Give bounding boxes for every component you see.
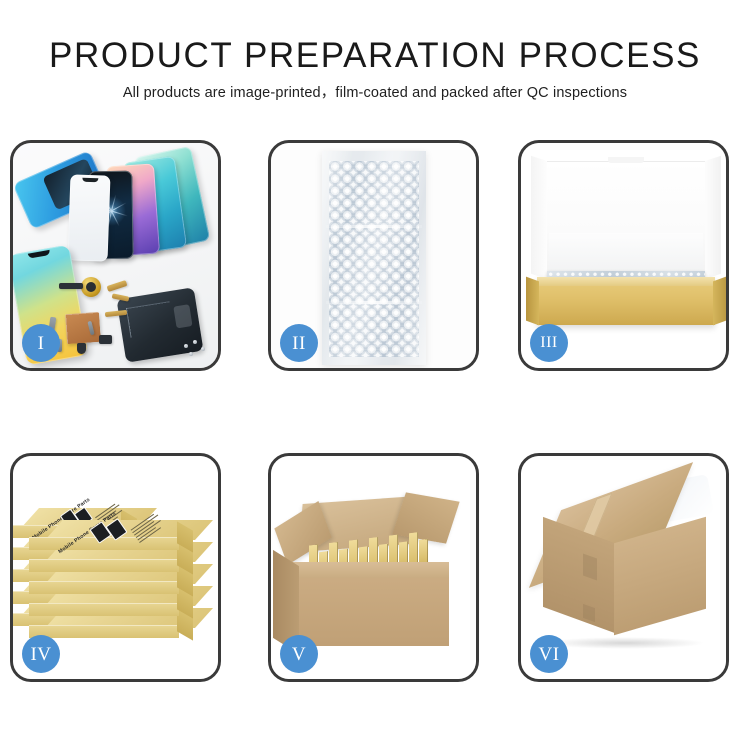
step-badge-1: I (22, 324, 60, 362)
step-panel-5: V (268, 453, 479, 682)
carton-flap-line-image (583, 553, 597, 580)
kraft-box-tray-image (537, 277, 715, 325)
step-6-image: VI (521, 456, 726, 679)
step-panel-2: II (268, 140, 479, 371)
step-badge-2: II (280, 324, 318, 362)
product-preparation-infographic: PRODUCT PREPARATION PROCESS All products… (0, 0, 750, 750)
step-badge-3: III (530, 324, 568, 362)
step-badge-6: VI (530, 635, 568, 673)
camera-lens-image (81, 277, 101, 297)
step-5-image: V (271, 456, 476, 679)
step-panel-3: III (518, 140, 729, 371)
step-panel-1: I (10, 140, 221, 371)
step-1-image: I (13, 143, 218, 368)
copper-components-image (65, 312, 101, 344)
step-2-image: II (271, 143, 476, 368)
bubble-wrap-image (322, 151, 426, 365)
plastic-gloss (322, 151, 426, 365)
chip-part-image (99, 335, 112, 344)
steps-grid: I II (0, 0, 750, 750)
phone-glass-white-image (68, 174, 111, 261)
stacked-box-labeled: Mobile Phone Spare Parts (45, 520, 195, 542)
chip-part-image (59, 283, 83, 289)
step-badge-4: IV (22, 635, 60, 673)
carton-shadow (545, 637, 705, 649)
step-3-image: III (521, 143, 726, 368)
box-stack-image: Mobile Phone Spare Parts (19, 478, 218, 660)
step-4-image: Mobile Phone Spare Parts (13, 456, 218, 679)
open-carton-image (297, 574, 449, 646)
screws-image (182, 340, 212, 358)
step-panel-4: Mobile Phone Spare Parts (10, 453, 221, 682)
step-badge-5: V (280, 635, 318, 673)
step-panel-6: VI (518, 453, 729, 682)
chip-part-image (77, 343, 86, 354)
